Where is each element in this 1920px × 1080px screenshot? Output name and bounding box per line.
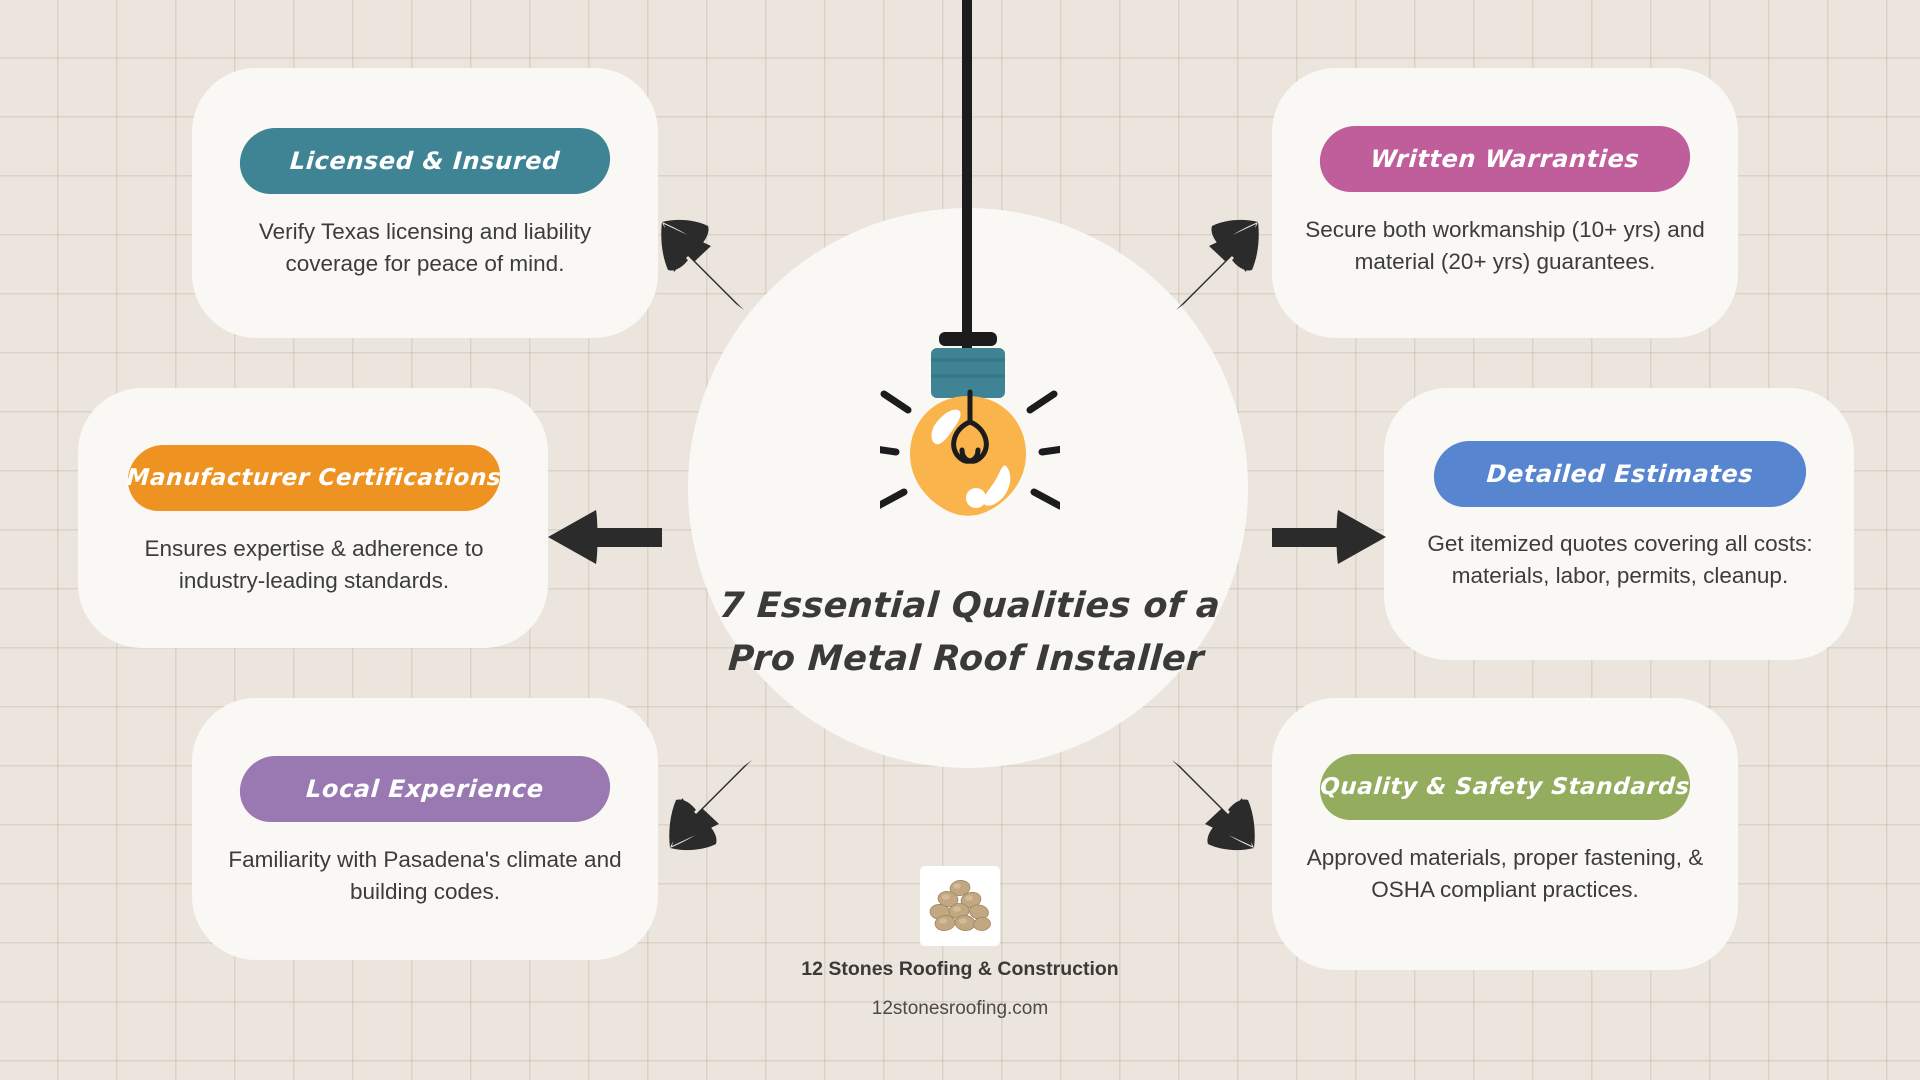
arrow-up-left-icon [648,210,758,325]
card-licensed-insured[interactable]: Licensed & Insured Verify Texas licensin… [192,68,658,338]
card-written-warranties[interactable]: Written Warranties Secure both workmansh… [1272,68,1738,338]
card-title-text: Written Warranties [1370,145,1641,173]
card-title-text: Licensed & Insured [289,147,561,175]
card-title-pill: Quality & Safety Standards [1318,754,1693,820]
card-title-pill: Manufacturer Certifications [126,445,503,511]
arrow-left-icon [546,502,662,577]
card-title-text: Quality & Safety Standards [1319,774,1690,800]
card-description: Familiarity with Pasadena's climate and … [218,844,632,908]
infographic-canvas: 7 Essential Qualities of a Pro Metal Roo… [0,0,1920,1080]
card-title-text: Local Experience [305,775,545,803]
center-title: 7 Essential Qualities of a Pro Metal Roo… [696,580,1239,686]
card-title-pill: Detailed Estimates [1432,441,1809,507]
card-title-text: Detailed Estimates [1486,460,1755,488]
card-quality-safety-standards[interactable]: Quality & Safety Standards Approved mate… [1272,698,1738,970]
bulb-cord [962,0,972,360]
center-title-line-1: 7 Essential Qualities of a [700,580,1240,633]
card-manufacturer-certifications[interactable]: Manufacturer Certifications Ensures expe… [78,388,548,648]
brand-name: 12 Stones Roofing & Construction [700,958,1220,981]
card-description: Secure both workmanship (10+ yrs) and ma… [1298,214,1712,278]
arrow-down-right-icon [1158,750,1268,865]
center-title-line-2: Pro Metal Roof Installer [696,633,1236,686]
card-description: Ensures expertise & adherence to industr… [100,533,528,597]
card-local-experience[interactable]: Local Experience Familiarity with Pasade… [192,698,658,960]
card-title-text: Manufacturer Certifications [126,465,502,491]
lightbulb-icon [880,330,1060,580]
card-description: Get itemized quotes covering all costs: … [1406,528,1834,592]
card-description: Verify Texas licensing and liability cov… [218,216,632,280]
arrow-right-icon [1272,502,1388,577]
arrow-up-right-icon [1162,210,1272,325]
arrow-down-left-icon [656,750,766,865]
card-description: Approved materials, proper fastening, & … [1298,842,1712,906]
card-title-pill: Local Experience [238,756,613,822]
card-title-pill: Licensed & Insured [238,128,613,194]
brand-url[interactable]: 12stonesroofing.com [700,998,1220,1020]
stone-pile-logo [920,866,1000,946]
card-title-pill: Written Warranties [1318,126,1693,192]
card-detailed-estimates[interactable]: Detailed Estimates Get itemized quotes c… [1384,388,1854,660]
